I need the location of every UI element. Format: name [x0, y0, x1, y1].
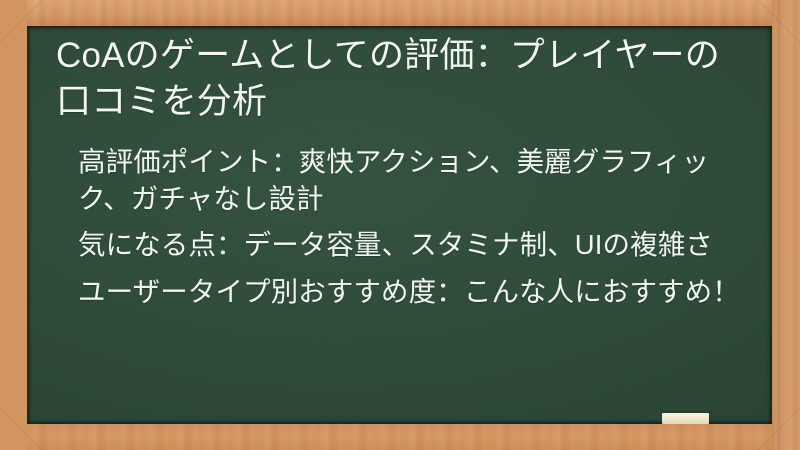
frame-rail-left — [0, 0, 27, 450]
chalk-stick-icon — [662, 413, 709, 424]
list-item: 高評価ポイント：爽快アクション、美麗グラフィック、ガチャなし設計 — [78, 144, 742, 217]
page-title: CoAのゲームとしての評価：プレイヤーの口コミを分析 — [56, 32, 742, 124]
list-item: ユーザータイプ別おすすめ度：こんな人におすすめ！ — [78, 274, 742, 311]
bullet-list: 高評価ポイント：爽快アクション、美麗グラフィック、ガチャなし設計 気になる点：デ… — [56, 144, 742, 310]
frame-rail-bottom — [0, 424, 800, 450]
list-item: 気になる点：データ容量、スタミナ制、UIの複雑さ — [78, 227, 742, 264]
chalkboard-slide: CoAのゲームとしての評価：プレイヤーの口コミを分析 高評価ポイント：爽快アクシ… — [0, 0, 800, 450]
blackboard-surface: CoAのゲームとしての評価：プレイヤーの口コミを分析 高評価ポイント：爽快アクシ… — [27, 26, 772, 424]
frame-rail-right — [772, 0, 800, 450]
frame-rail-top — [0, 0, 800, 27]
slide-content: CoAのゲームとしての評価：プレイヤーの口コミを分析 高評価ポイント：爽快アクシ… — [27, 26, 772, 424]
